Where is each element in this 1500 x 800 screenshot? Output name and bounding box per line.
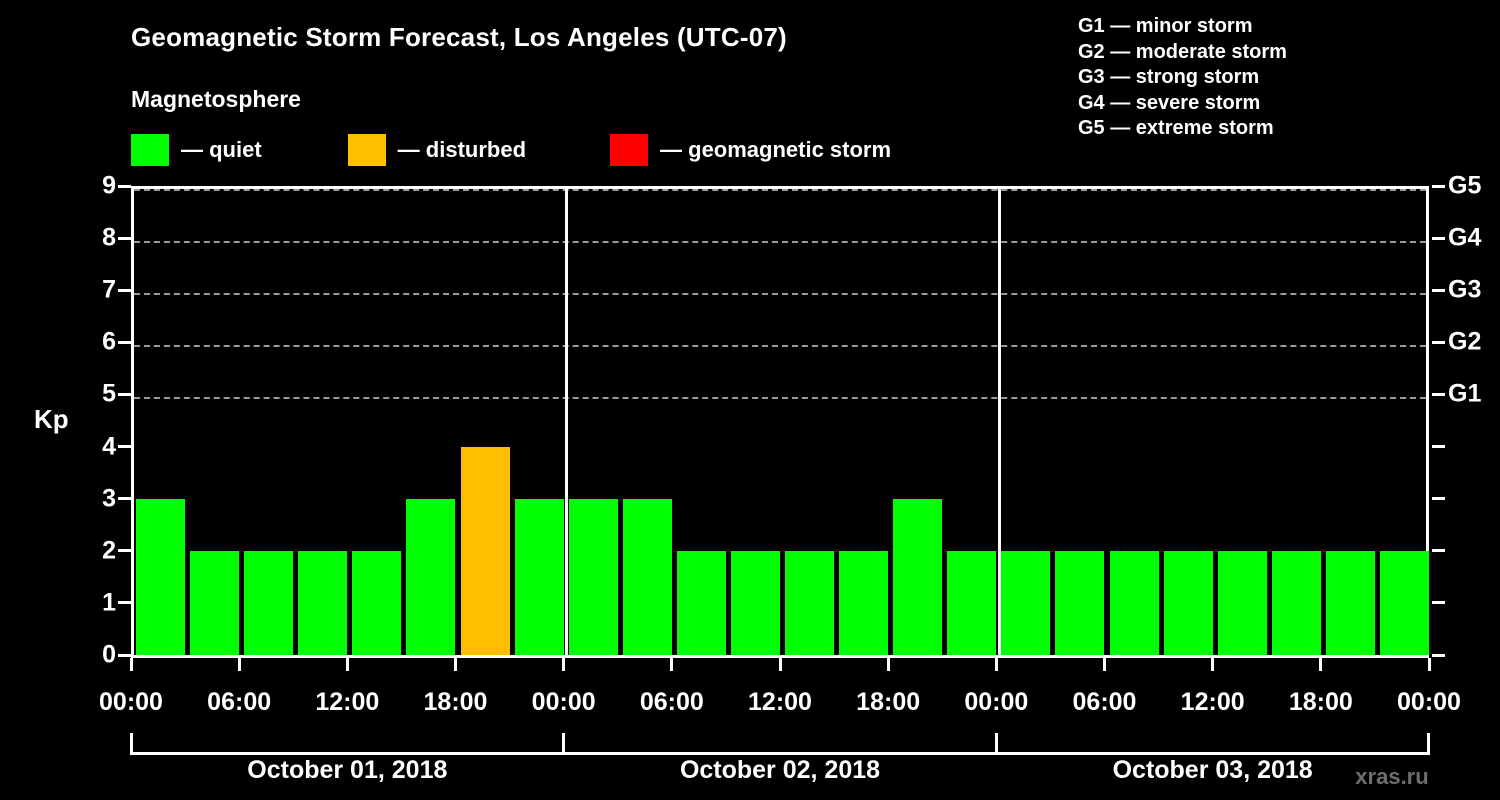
day-caption-3: October 03, 2018 <box>1113 756 1313 785</box>
gscale-row-g5: G5 — extreme storm <box>1078 116 1287 142</box>
bar-series <box>134 189 1426 655</box>
x-tick-label-10: 12:00 <box>1181 688 1245 717</box>
bar <box>298 551 347 655</box>
g-tick-mark-kp-3 <box>1432 497 1445 500</box>
legend-label-quiet: — quiet <box>181 137 262 163</box>
chart-root: Geomagnetic Storm Forecast, Los Angeles … <box>0 0 1500 800</box>
legend-item-disturbed: — disturbed <box>348 133 526 167</box>
x-tick-label-4: 00:00 <box>532 688 596 717</box>
day-bracket-1 <box>130 733 566 755</box>
y-tick-label-3: 3 <box>102 484 116 513</box>
plot-area <box>131 186 1429 655</box>
day-bracket-3 <box>995 733 1431 755</box>
day-brackets <box>0 733 1500 757</box>
day-caption-1: October 01, 2018 <box>247 756 447 785</box>
g-label-g2: G2 <box>1448 328 1481 357</box>
x-axis-ticks <box>0 658 1500 672</box>
day-caption-2: October 02, 2018 <box>680 756 880 785</box>
bar <box>1380 551 1429 655</box>
g-tick-mark-kp-9 <box>1432 185 1445 188</box>
bar <box>677 551 726 655</box>
y-tick-mark-5 <box>118 393 131 396</box>
x-tick-label-3: 18:00 <box>424 688 488 717</box>
bar <box>406 499 455 655</box>
y-tick-mark-2 <box>118 549 131 552</box>
y-tick-mark-8 <box>118 237 131 240</box>
legend-item-quiet: — quiet <box>131 133 262 167</box>
y-tick-mark-1 <box>118 601 131 604</box>
bar <box>461 447 510 655</box>
y-tick-mark-9 <box>118 185 131 188</box>
x-tick-mark-7 <box>887 658 890 671</box>
y-tick-label-4: 4 <box>102 432 116 461</box>
bar <box>569 499 618 655</box>
legend-swatch-storm-icon <box>610 134 648 166</box>
g-tick-mark-kp-7 <box>1432 289 1445 292</box>
g-scale-ticks <box>1432 0 1445 800</box>
x-tick-mark-9 <box>1103 658 1106 671</box>
y-tick-mark-3 <box>118 497 131 500</box>
g-tick-mark-kp-8 <box>1432 237 1445 240</box>
y-tick-label-8: 8 <box>102 224 116 253</box>
gscale-row-g4: G4 — severe storm <box>1078 91 1287 117</box>
x-axis-labels: 00:0006:0012:0018:0000:0006:0012:0018:00… <box>0 688 1500 720</box>
g-label-g4: G4 <box>1448 224 1481 253</box>
g-label-g3: G3 <box>1448 276 1481 305</box>
x-tick-mark-8 <box>995 658 998 671</box>
x-tick-mark-11 <box>1319 658 1322 671</box>
x-tick-label-7: 18:00 <box>856 688 920 717</box>
page-title: Geomagnetic Storm Forecast, Los Angeles … <box>131 22 787 53</box>
x-tick-mark-12 <box>1428 658 1431 671</box>
bar <box>190 551 239 655</box>
x-tick-label-11: 18:00 <box>1289 688 1353 717</box>
x-tick-label-0: 00:00 <box>99 688 163 717</box>
y-tick-label-7: 7 <box>102 276 116 305</box>
day-bracket-2 <box>562 733 998 755</box>
legend-item-storm: — geomagnetic storm <box>610 133 891 167</box>
x-tick-mark-0 <box>130 658 133 671</box>
y-axis-title: Kp <box>34 404 69 435</box>
bar <box>1001 551 1050 655</box>
g-tick-mark-kp-4 <box>1432 445 1445 448</box>
g-scale-labels: G1G2G3G4G5 <box>1448 0 1500 800</box>
bar <box>893 499 942 655</box>
g-tick-mark-kp-2 <box>1432 549 1445 552</box>
section-heading: Magnetosphere <box>131 86 301 113</box>
x-tick-mark-6 <box>779 658 782 671</box>
g-label-g5: G5 <box>1448 172 1481 201</box>
gscale-row-g1: G1 — minor storm <box>1078 14 1287 40</box>
bar <box>1272 551 1321 655</box>
gscale-legend: G1 — minor stormG2 — moderate stormG3 — … <box>1078 14 1287 142</box>
bar <box>515 499 564 655</box>
bar <box>352 551 401 655</box>
legend-label-storm: — geomagnetic storm <box>660 137 891 163</box>
gscale-row-g3: G3 — strong storm <box>1078 65 1287 91</box>
bar <box>244 551 293 655</box>
bar <box>839 551 888 655</box>
x-tick-label-5: 06:00 <box>640 688 704 717</box>
legend-swatch-quiet-icon <box>131 134 169 166</box>
y-tick-mark-4 <box>118 445 131 448</box>
y-axis-ticks <box>118 0 131 800</box>
legend-label-disturbed: — disturbed <box>398 137 526 163</box>
y-tick-label-1: 1 <box>102 588 116 617</box>
gscale-row-g2: G2 — moderate storm <box>1078 40 1287 66</box>
bar <box>136 499 185 655</box>
x-tick-label-2: 12:00 <box>315 688 379 717</box>
x-tick-mark-2 <box>346 658 349 671</box>
g-tick-mark-kp-6 <box>1432 341 1445 344</box>
x-tick-mark-1 <box>238 658 241 671</box>
y-tick-mark-7 <box>118 289 131 292</box>
bar <box>1055 551 1104 655</box>
x-tick-mark-10 <box>1211 658 1214 671</box>
g-label-g1: G1 <box>1448 380 1481 409</box>
bar <box>1164 551 1213 655</box>
x-tick-label-8: 00:00 <box>964 688 1028 717</box>
x-tick-label-9: 06:00 <box>1073 688 1137 717</box>
x-tick-mark-5 <box>670 658 673 671</box>
g-tick-mark-kp-0 <box>1432 654 1445 657</box>
bar <box>785 551 834 655</box>
x-tick-mark-4 <box>562 658 565 671</box>
day-captions: October 01, 2018October 02, 2018October … <box>0 756 1500 792</box>
color-legend: — quiet— disturbed— geomagnetic storm <box>131 133 891 167</box>
x-tick-label-1: 06:00 <box>207 688 271 717</box>
y-axis-labels: 0123456789 <box>78 0 116 800</box>
bar <box>1110 551 1159 655</box>
y-tick-mark-0 <box>118 654 131 657</box>
y-tick-mark-6 <box>118 341 131 344</box>
watermark: xras.ru <box>1355 764 1428 790</box>
bar <box>1326 551 1375 655</box>
x-tick-mark-3 <box>454 658 457 671</box>
y-tick-label-6: 6 <box>102 328 116 357</box>
g-tick-mark-kp-1 <box>1432 601 1445 604</box>
bar <box>731 551 780 655</box>
legend-swatch-disturbed-icon <box>348 134 386 166</box>
y-tick-label-5: 5 <box>102 380 116 409</box>
bar <box>1218 551 1267 655</box>
y-tick-label-2: 2 <box>102 536 116 565</box>
x-tick-label-6: 12:00 <box>748 688 812 717</box>
bar <box>623 499 672 655</box>
y-tick-label-9: 9 <box>102 172 116 201</box>
g-tick-mark-kp-5 <box>1432 393 1445 396</box>
bar <box>947 551 996 655</box>
x-tick-label-12: 00:00 <box>1397 688 1461 717</box>
